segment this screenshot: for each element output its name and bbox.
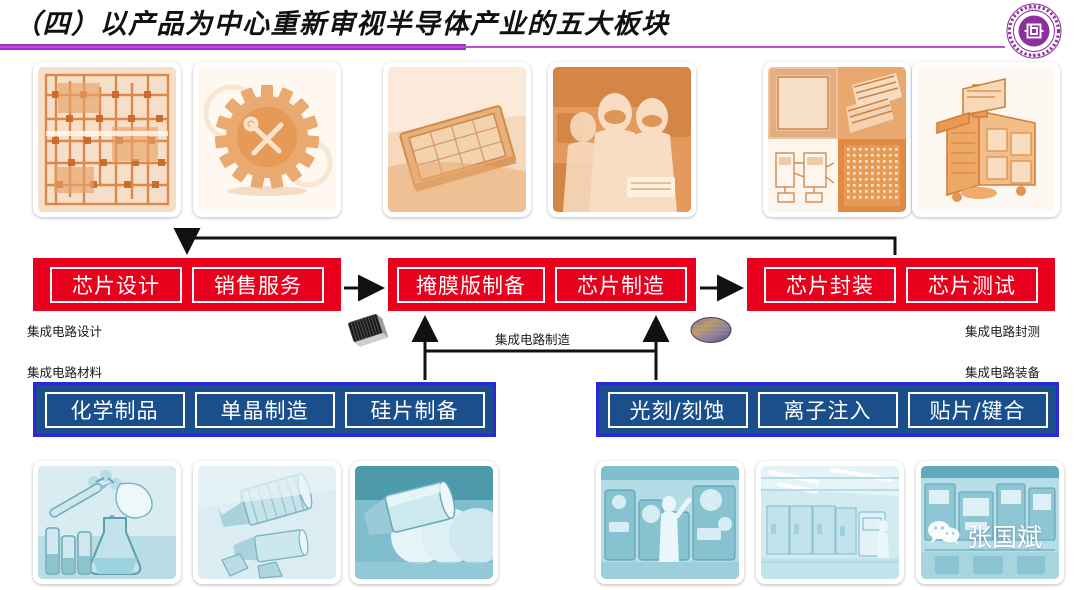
ic-design-caption: 集成电路设计 <box>27 321 102 340</box>
chip-design-box[interactable]: 芯片设计 <box>50 267 182 303</box>
bottom-image-card: 张国斌 <box>916 461 1064 584</box>
photomask-photo <box>388 67 526 212</box>
single-crystal-box[interactable]: 单晶制造 <box>195 392 335 428</box>
package-collage-photo <box>768 67 906 212</box>
bottom-image-card <box>350 461 498 584</box>
svg-text:1911: 1911 <box>1030 53 1038 57</box>
ic-materials-group[interactable]: 化学制品 单晶制造 硅片制备 <box>33 382 496 437</box>
chip-layout-photo <box>38 67 176 212</box>
ic-design-group[interactable]: 芯片设计 销售服务 <box>33 258 341 311</box>
fab-line-photo <box>761 466 899 579</box>
top-image-card <box>548 62 696 217</box>
top-image-card <box>193 62 341 217</box>
ic-manufacturing-caption: 集成电路制造 <box>495 329 570 348</box>
ic-equipment-caption: 集成电路装备 <box>965 362 1040 381</box>
chemical-products-box[interactable]: 化学制品 <box>45 392 185 428</box>
chip-testing-box[interactable]: 芯片测试 <box>906 267 1038 303</box>
test-equipment-photo <box>917 67 1055 212</box>
svg-text:清华大学: 清华大学 <box>1028 6 1041 11</box>
slide-root: （四）以产品为中心重新审视半导体产业的五大板块 清华大学 1911 <box>0 0 1080 590</box>
chip-packaging-box[interactable]: 芯片封装 <box>764 267 896 303</box>
mask-preparation-box[interactable]: 掩膜版制备 <box>397 267 545 303</box>
silicon-ingot-photo <box>198 466 336 579</box>
ic-manufacturing-group[interactable]: 掩膜版制备 芯片制造 <box>388 258 696 311</box>
wechat-watermark: 张国斌 <box>927 518 1042 554</box>
ic-materials-caption: 集成电路材料 <box>27 362 102 381</box>
wechat-watermark-label: 张国斌 <box>967 518 1042 554</box>
litho-etch-box[interactable]: 光刻/刻蚀 <box>608 392 748 428</box>
ic-packaging-test-caption: 集成电路封测 <box>965 321 1040 340</box>
wafer-preparation-box[interactable]: 硅片制备 <box>345 392 485 428</box>
packaging-feedback-to-design-arrow <box>187 238 895 255</box>
page-title: （四）以产品为中心重新审视半导体产业的五大板块 <box>14 2 670 41</box>
bottom-image-card <box>193 461 341 584</box>
top-image-card <box>763 62 911 217</box>
ic-equipment-group[interactable]: 光刻/刻蚀 离子注入 贴片/键合 <box>596 382 1059 437</box>
sales-service-box[interactable]: 销售服务 <box>192 267 324 303</box>
top-image-card <box>912 62 1060 217</box>
die-bond-box[interactable]: 贴片/键合 <box>908 392 1048 428</box>
silicon-wafer-icon <box>690 316 732 344</box>
chemicals-lab-photo <box>38 466 176 579</box>
bottom-image-card <box>33 461 181 584</box>
bottom-image-card <box>596 461 744 584</box>
assembly-equipment-photo: 张国斌 <box>921 466 1059 579</box>
university-seal-logo: 清华大学 1911 <box>1005 2 1063 60</box>
bottom-image-card <box>756 461 904 584</box>
top-image-card <box>33 62 181 217</box>
etching-equipment-photo <box>601 466 739 579</box>
ic-packaging-test-group[interactable]: 芯片封装 芯片测试 <box>747 258 1055 311</box>
wechat-icon <box>927 520 961 552</box>
gear-tools-photo <box>198 67 336 212</box>
title-rule-thin <box>0 46 1005 48</box>
silicon-wafer-photo <box>355 466 493 579</box>
ion-implant-box[interactable]: 离子注入 <box>758 392 898 428</box>
chip-fabrication-box[interactable]: 芯片制造 <box>555 267 687 303</box>
ic-chip-icon <box>342 308 390 352</box>
cleanroom-workers-photo <box>553 67 691 212</box>
top-image-card <box>383 62 531 217</box>
